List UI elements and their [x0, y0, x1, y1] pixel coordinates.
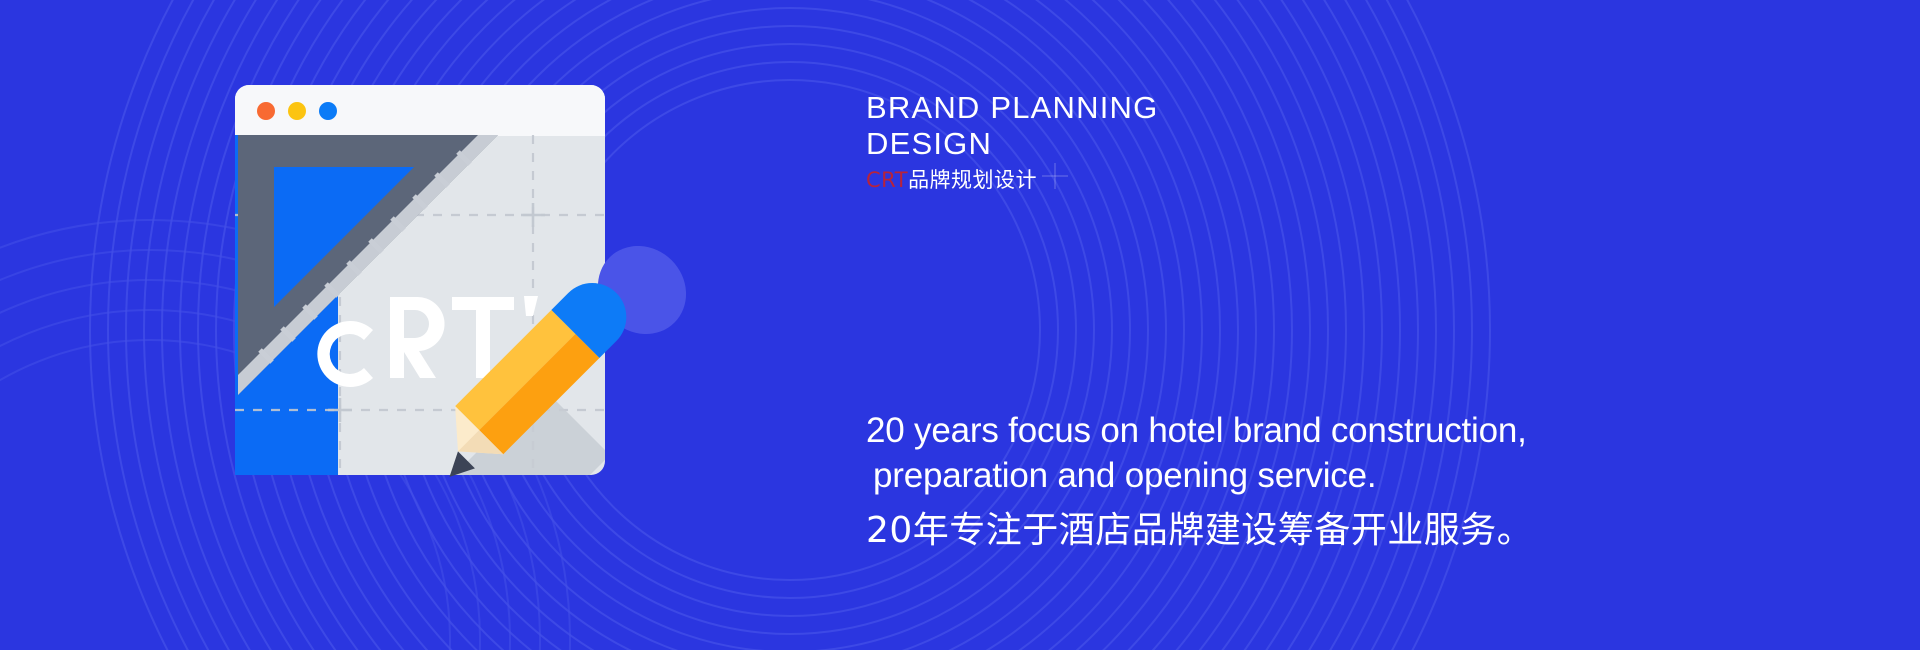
- headline-english-line-2: preparation and opening service.: [866, 453, 1766, 498]
- eyebrow-chinese-text: 品牌规划设计: [908, 168, 1037, 192]
- headline-english: 20 years focus on hotel brand constructi…: [866, 408, 1766, 498]
- eyebrow-line-2: DESIGN: [866, 126, 1486, 162]
- brand-design-illustration: [190, 75, 790, 585]
- banner-text-column: BRAND PLANNING DESIGN CRT品牌规划设计 20 years…: [866, 0, 1866, 650]
- eyebrow-line-1: BRAND PLANNING: [866, 90, 1486, 126]
- eyebrow-heading-group: BRAND PLANNING DESIGN CRT品牌规划设计: [866, 90, 1486, 193]
- crt-brand-mark: CRT: [866, 168, 908, 192]
- close-dot-icon: [257, 102, 275, 120]
- headline-group: 20 years focus on hotel brand constructi…: [866, 408, 1766, 553]
- headline-english-line-1: 20 years focus on hotel brand constructi…: [866, 411, 1527, 450]
- maximize-dot-icon: [319, 102, 337, 120]
- minimize-dot-icon: [288, 102, 306, 120]
- headline-chinese: 20年专注于酒店品牌建设筹备开业服务。: [866, 509, 1766, 553]
- eyebrow-chinese-subtitle: CRT品牌规划设计: [866, 167, 1486, 193]
- brand-banner: BRAND PLANNING DESIGN CRT品牌规划设计 20 years…: [0, 0, 1920, 650]
